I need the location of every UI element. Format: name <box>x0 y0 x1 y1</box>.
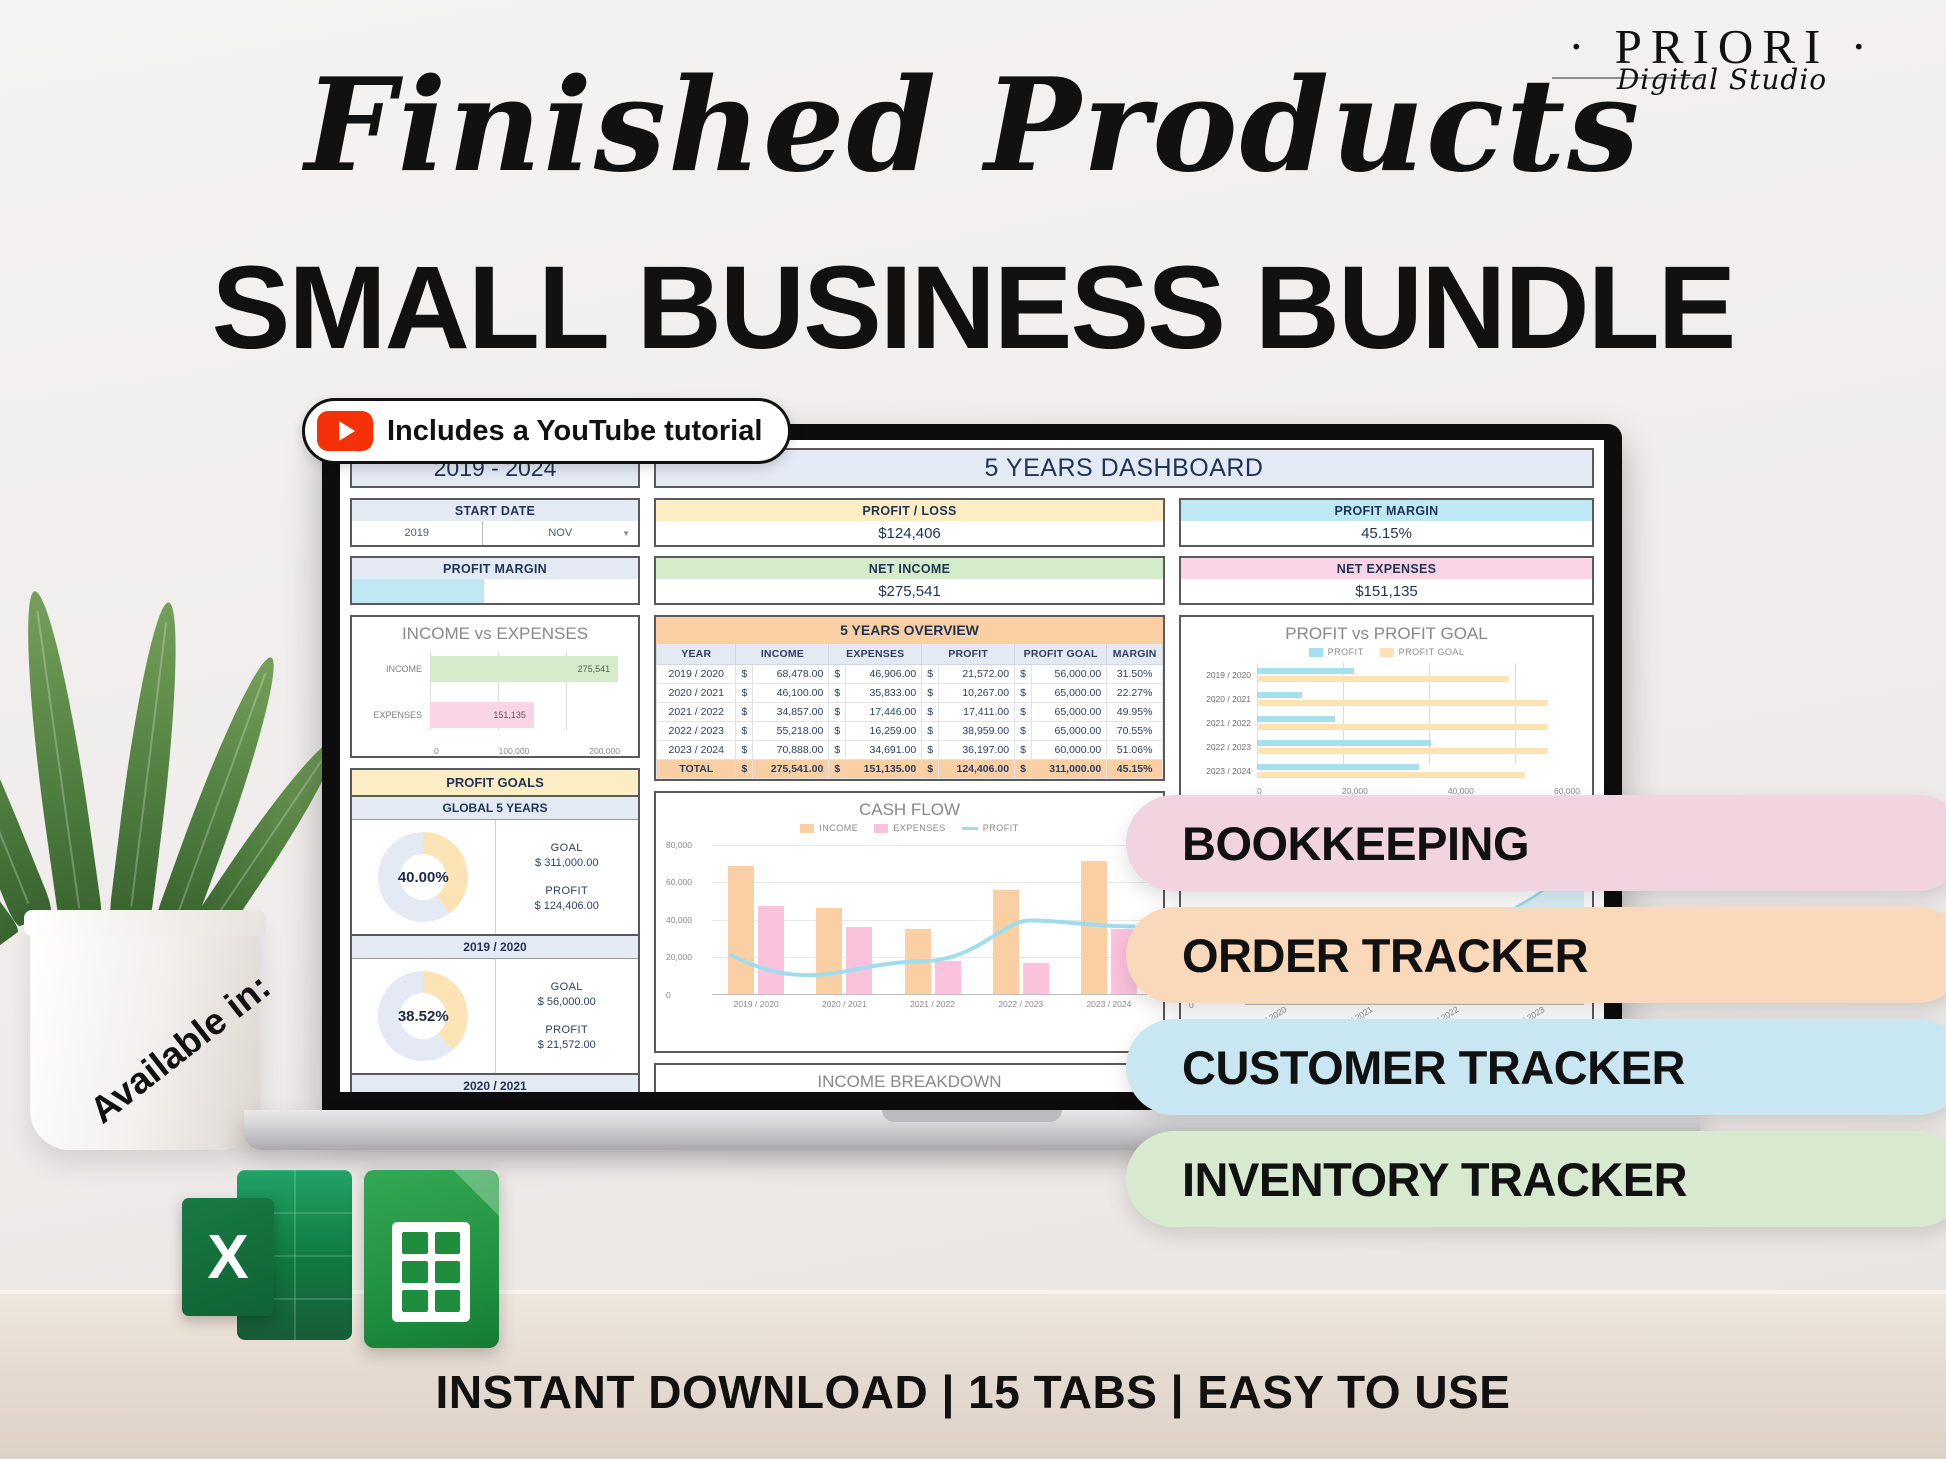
cell-goal: 65,000.00 <box>1031 703 1106 722</box>
bar-row-expenses: EXPENSES 151,135 <box>364 700 626 730</box>
bar-label: 2019 / 2020 <box>1193 670 1257 680</box>
profit-label: PROFIT <box>545 885 588 897</box>
youtube-tutorial-badge: Includes a YouTube tutorial <box>302 398 791 464</box>
profit-goal-section: 38.52% GOAL $ 56,000.00 PROFIT $ 21,572.… <box>352 959 638 1073</box>
cell-total-label: TOTAL <box>657 760 736 779</box>
cell-total-margin: 45.15% <box>1107 760 1163 779</box>
cell-currency: $ <box>922 665 939 684</box>
cell-year: 2022 / 2023 <box>657 722 736 741</box>
five-years-overview-table: 5 YEARS OVERVIEW YEAR INCOME EXPENSES PR… <box>654 615 1165 781</box>
cell-profit: 36,197.00 <box>939 741 1015 760</box>
cell-year: 2023 / 2024 <box>657 741 736 760</box>
legend-item-expenses: EXPENSES <box>874 823 946 833</box>
cell-total-expenses: 151,135.00 <box>846 760 922 779</box>
profit-value: $ 124,406.00 <box>535 900 599 912</box>
legend-item-profit: PROFIT <box>1309 647 1364 657</box>
y-tick: 80,000 <box>666 840 692 850</box>
kpi-value-profit-margin: 45.15% <box>1181 521 1592 545</box>
cell-currency: $ <box>1015 684 1032 703</box>
dashboard-column-left: START DATE 2019 NOV ▼ PROFIT MARGIN <box>350 498 640 1092</box>
cell-currency: $ <box>829 722 846 741</box>
page-title: SMALL BUSINESS BUNDLE <box>0 240 1946 376</box>
x-axis-ticks: 0 100,000 200,000 <box>364 746 626 756</box>
cell-currency: $ <box>922 703 939 722</box>
bar-expenses: 151,135 <box>430 702 534 728</box>
goal-value: $ 311,000.00 <box>535 857 598 869</box>
table-row: 2023 / 2024 $ 70,888.00 $ 34,691.00 $ 36… <box>657 741 1163 760</box>
cell-profit: 10,267.00 <box>939 684 1015 703</box>
chart-title: INCOME BREAKDOWN <box>656 1065 1163 1092</box>
dashboard-title-cell: 5 YEARS DASHBOARD <box>654 448 1594 488</box>
cell-currency: $ <box>736 703 753 722</box>
cell-goal: 56,000.00 <box>1031 665 1106 684</box>
profit-goal-section: 40.00% GOAL $ 311,000.00 PROFIT $ 124,40… <box>352 820 638 934</box>
table-total-row: TOTAL $ 275,541.00 $ 151,135.00 $ 124,40… <box>657 760 1163 779</box>
cell-total-income: 275,541.00 <box>753 760 829 779</box>
cell-year: 2021 / 2022 <box>657 703 736 722</box>
cell-currency: $ <box>922 684 939 703</box>
col-expenses: EXPENSES <box>829 644 922 665</box>
y-tick: 60,000 <box>666 877 692 887</box>
cell-currency: $ <box>1015 665 1032 684</box>
profit-line <box>712 845 1153 994</box>
cash-flow-plot: 80,000 60,000 40,000 20,000 0 <box>656 833 1163 1051</box>
donut-percent: 38.52% <box>398 1008 449 1025</box>
start-month-dropdown[interactable]: NOV ▼ <box>483 521 638 545</box>
cell-income: 55,218.00 <box>753 722 829 741</box>
feature-badge-inventory-tracker[interactable]: INVENTORY TRACKER <box>1126 1131 1946 1227</box>
kpi-label-net-income: NET INCOME <box>656 558 1163 579</box>
cell-income: 70,888.00 <box>753 741 829 760</box>
table-row: 2021 / 2022 $ 34,857.00 $ 17,446.00 $ 17… <box>657 703 1163 722</box>
cell-total-goal: 311,000.00 <box>1031 760 1106 779</box>
kpi-label-profit-margin: PROFIT MARGIN <box>1181 500 1592 521</box>
feature-badge-bookkeeping[interactable]: BOOKKEEPING <box>1126 795 1946 891</box>
cell-profit: 17,411.00 <box>939 703 1015 722</box>
start-year-value[interactable]: 2019 <box>352 521 483 545</box>
cell-goal: 65,000.00 <box>1031 722 1106 741</box>
profit-margin-gauge-bar <box>352 579 484 603</box>
kpi-label-profit-loss: PROFIT / LOSS <box>656 500 1163 521</box>
cell-goal: 65,000.00 <box>1031 684 1106 703</box>
legend-item-profit-goal: PROFIT GOAL <box>1380 647 1465 657</box>
profit-vs-goal-chart: PROFIT vs PROFIT GOAL PROFIT PROFIT GOAL <box>1179 615 1594 802</box>
x-axis-labels: 2019 / 2020 2020 / 2021 2021 / 2022 2022… <box>712 999 1153 1009</box>
microsoft-excel-icon: X <box>182 1170 352 1340</box>
cell-currency: $ <box>829 684 846 703</box>
cell-currency: $ <box>922 760 939 779</box>
cell-margin: 49.95% <box>1107 703 1163 722</box>
cell-income: 68,478.00 <box>753 665 829 684</box>
bar-label: 2022 / 2023 <box>1193 742 1257 752</box>
start-date-controls[interactable]: 2019 NOV ▼ <box>352 521 638 545</box>
cell-currency: $ <box>829 703 846 722</box>
excel-x-glyph: X <box>182 1198 274 1316</box>
start-date-card[interactable]: START DATE 2019 NOV ▼ <box>350 498 640 547</box>
col-year: YEAR <box>657 644 736 665</box>
x-tick: 200,000 <box>589 746 620 756</box>
cell-year: 2020 / 2021 <box>657 684 736 703</box>
donut-chart: 40.00% <box>378 832 468 922</box>
kpi-value-profit-loss: $124,406 <box>656 521 1163 545</box>
chart-legend: INCOME EXPENSES PROFIT <box>656 823 1163 833</box>
kpi-profit-loss: INCOME vs EXPENSES PROFIT / LOSS $124,40… <box>654 498 1165 547</box>
cell-currency: $ <box>829 760 846 779</box>
profit-goals-title: PROFIT GOALS <box>352 770 638 797</box>
chart-title: CASH FLOW <box>656 793 1163 820</box>
legend-item-profit: PROFIT <box>962 823 1019 833</box>
cell-currency: $ <box>736 665 753 684</box>
income-breakdown-chart: INCOME BREAKDOWN Consulting 4.0% Etsy Sa… <box>654 1063 1165 1092</box>
sheets-fold-corner <box>453 1170 499 1216</box>
cell-currency: $ <box>736 684 753 703</box>
donut-percent: 40.00% <box>398 869 449 886</box>
x-tick: 2022 / 2023 <box>977 999 1065 1009</box>
table-header-row: YEAR INCOME EXPENSES PROFIT PROFIT GOAL … <box>657 644 1163 665</box>
x-tick: 2020 / 2021 <box>800 999 888 1009</box>
youtube-tutorial-label: Includes a YouTube tutorial <box>387 415 762 448</box>
cell-currency: $ <box>1015 741 1032 760</box>
col-income: INCOME <box>736 644 829 665</box>
footer-tagline: INSTANT DOWNLOAD | 15 TABS | EASY TO USE <box>0 1365 1946 1419</box>
start-month-value: NOV <box>548 527 572 539</box>
cell-margin: 22.27% <box>1107 684 1163 703</box>
chart-title: INCOME vs EXPENSES <box>352 617 638 644</box>
cell-currency: $ <box>922 741 939 760</box>
table-row: 2022 / 2023 $ 55,218.00 $ 16,259.00 $ 38… <box>657 722 1163 741</box>
cell-currency: $ <box>829 741 846 760</box>
cell-margin: 31.50% <box>1107 665 1163 684</box>
cell-currency: $ <box>1015 722 1032 741</box>
cell-goal: 60,000.00 <box>1031 741 1106 760</box>
overview-title: 5 YEARS OVERVIEW <box>656 617 1163 643</box>
cell-currency: $ <box>922 722 939 741</box>
bar-value-label: 151,135 <box>493 710 526 720</box>
profit-goals-panel: PROFIT GOALS GLOBAL 5 YEARS 40.00% GOAL <box>350 768 640 1092</box>
cell-total-profit: 124,406.00 <box>939 760 1015 779</box>
goal-label: GOAL <box>551 981 583 993</box>
profit-value: $ 21,572.00 <box>538 1039 596 1051</box>
legend-item-income: INCOME <box>800 823 858 833</box>
feature-badge-list: BOOKKEEPING ORDER TRACKER CUSTOMER TRACK… <box>1126 795 1946 1243</box>
x-tick: 2021 / 2022 <box>888 999 976 1009</box>
cell-margin: 70.55% <box>1107 722 1163 741</box>
app-icon-group: X <box>182 1160 512 1350</box>
cell-currency: $ <box>829 665 846 684</box>
cell-expenses: 34,691.00 <box>846 741 922 760</box>
kpi-label-net-expenses: NET EXPENSES <box>1181 558 1592 579</box>
donut-chart: 38.52% <box>378 971 468 1061</box>
kpi-net-expenses: NET EXPENSES $151,135 <box>1179 556 1594 605</box>
profit-label: PROFIT <box>545 1024 588 1036</box>
bar-label: EXPENSES <box>364 710 430 720</box>
profit-margin-gauge-label: PROFIT MARGIN <box>352 558 638 579</box>
overview-table: YEAR INCOME EXPENSES PROFIT PROFIT GOAL … <box>656 643 1163 779</box>
google-sheets-icon <box>364 1170 499 1348</box>
bar-label: INCOME <box>364 664 430 674</box>
profit-goal-period: GLOBAL 5 YEARS <box>352 797 638 820</box>
cell-expenses: 35,833.00 <box>846 684 922 703</box>
bar-row-income: INCOME 275,541 <box>364 654 626 684</box>
sheets-grid-glyph <box>392 1222 470 1322</box>
cell-currency: $ <box>736 760 753 779</box>
income-vs-expenses-chart: INCOME vs EXPENSES INCOME 275,541 <box>350 615 640 758</box>
y-tick: 20,000 <box>666 952 692 962</box>
cell-margin: 51.06% <box>1107 741 1163 760</box>
kpi-value-net-income: $275,541 <box>656 579 1163 603</box>
cell-currency: $ <box>1015 703 1032 722</box>
dashboard-column-middle: INCOME vs EXPENSES PROFIT / LOSS $124,40… <box>654 498 1165 1092</box>
y-tick: 40,000 <box>666 915 692 925</box>
bar-income: 275,541 <box>430 656 618 682</box>
cell-income: 46,100.00 <box>753 684 829 703</box>
cell-currency: $ <box>736 741 753 760</box>
cell-expenses: 46,906.00 <box>846 665 922 684</box>
table-row: 2020 / 2021 $ 46,100.00 $ 35,833.00 $ 10… <box>657 684 1163 703</box>
y-tick: 0 <box>666 990 671 1000</box>
chart-legend: PROFIT PROFIT GOAL <box>1181 647 1592 657</box>
page-script-title: Finished Products <box>0 62 1946 190</box>
col-profit-goal: PROFIT GOAL <box>1015 644 1107 665</box>
cell-currency: $ <box>736 722 753 741</box>
kpi-profit-margin: PROFIT MARGIN 45.15% <box>1179 498 1594 547</box>
bar-label: 2020 / 2021 <box>1193 694 1257 704</box>
cell-currency: $ <box>1015 760 1032 779</box>
col-margin: MARGIN <box>1107 644 1163 665</box>
cell-profit: 21,572.00 <box>939 665 1015 684</box>
cell-expenses: 16,259.00 <box>846 722 922 741</box>
bar-label: 2023 / 2024 <box>1193 766 1257 776</box>
feature-badge-customer-tracker[interactable]: CUSTOMER TRACKER <box>1126 1019 1946 1115</box>
cell-expenses: 17,446.00 <box>846 703 922 722</box>
feature-badge-order-tracker[interactable]: ORDER TRACKER <box>1126 907 1946 1003</box>
chart-title: PROFIT vs PROFIT GOAL <box>1181 617 1592 644</box>
income-vs-expenses-plot: INCOME 275,541 EXPENSES <box>352 644 638 756</box>
profit-goal-period: 2020 / 2021 <box>352 1073 638 1092</box>
chevron-down-icon: ▼ <box>622 529 630 538</box>
cell-year: 2019 / 2020 <box>657 665 736 684</box>
kpi-value-net-expenses: $151,135 <box>1181 579 1592 603</box>
x-tick: 100,000 <box>499 746 530 756</box>
table-row: 2019 / 2020 $ 68,478.00 $ 46,906.00 $ 21… <box>657 665 1163 684</box>
cell-income: 34,857.00 <box>753 703 829 722</box>
profit-vs-goal-plot: 2019 / 2020 2020 / 2021 2021 / 2022 2022… <box>1181 657 1592 800</box>
kpi-net-income: NET INCOME $275,541 <box>654 556 1165 605</box>
x-tick: 2019 / 2020 <box>712 999 800 1009</box>
x-tick: 0 <box>434 746 439 756</box>
goal-value: $ 56,000.00 <box>538 996 596 1008</box>
profit-goal-period: 2019 / 2020 <box>352 934 638 959</box>
cash-flow-chart: CASH FLOW INCOME EXPENSES PROFIT <box>654 791 1165 1053</box>
bar-value-label: 275,541 <box>578 664 611 674</box>
start-date-label: START DATE <box>352 500 638 521</box>
col-profit: PROFIT <box>922 644 1015 665</box>
profit-margin-gauge-card: PROFIT MARGIN <box>350 556 640 605</box>
youtube-play-icon <box>317 411 373 451</box>
goal-label: GOAL <box>551 842 583 854</box>
cell-profit: 38,959.00 <box>939 722 1015 741</box>
bar-label: 2021 / 2022 <box>1193 718 1257 728</box>
